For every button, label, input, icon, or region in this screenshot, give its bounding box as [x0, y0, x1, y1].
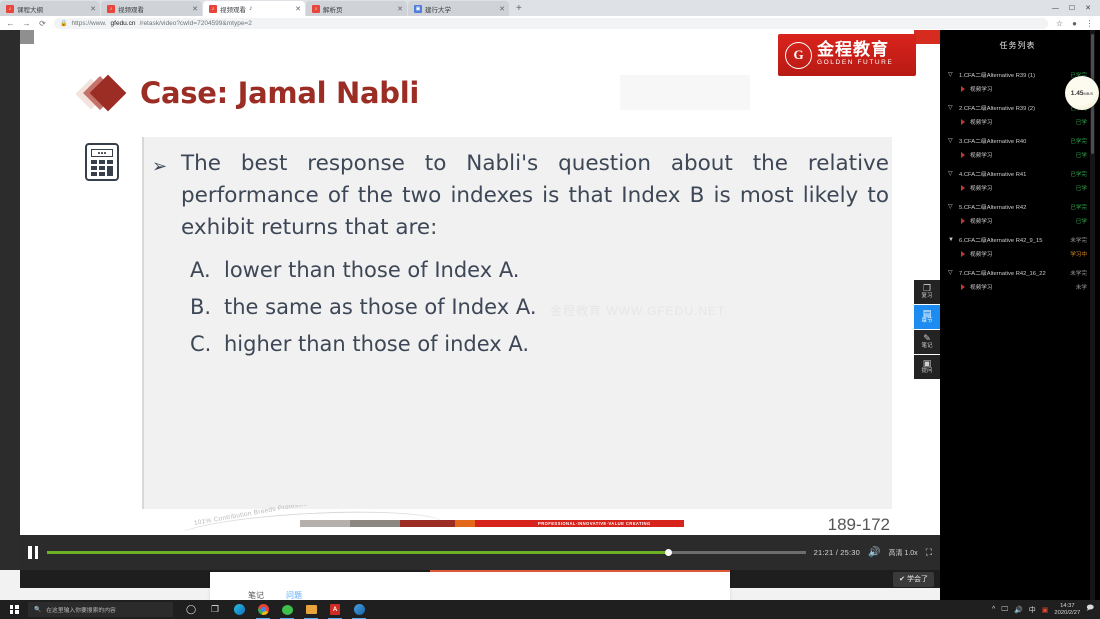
windows-taskbar: 🔍 在这里输入你要搜索的内容 ◯ ❐ A ^ 🖵 🔊 中 ▣ 14:37 202… [0, 600, 1100, 619]
search-icon: 🔍 [34, 607, 41, 613]
task-label: 6.CFA二级Alternative R42_9_15 [959, 235, 1066, 244]
footer-swoosh: 101% Contribution Breeds Professionalism… [165, 505, 455, 531]
task-group-3: ▽ 3.CFA二级Alternative R40 已学完 视频学习 已学 [948, 133, 1087, 162]
tool-notes-button[interactable]: ✎ 笔记 [914, 330, 940, 354]
slide-shadow [620, 75, 750, 110]
learned-button[interactable]: ✔ 学会了 [893, 572, 934, 587]
shield-favicon: ▣ [414, 5, 422, 13]
url-scheme: https://www. [71, 20, 106, 27]
file-explorer-icon[interactable] [299, 600, 323, 619]
subtask-label: 视频学习 [970, 118, 1072, 126]
network-speed-badge: 1.45MB/S [1065, 76, 1099, 110]
subtask-status: 学习中 [1070, 250, 1087, 258]
task-item[interactable]: ▽ 3.CFA二级Alternative R40 已学完 [948, 133, 1087, 148]
tab-strip: ♪ 课程大纲 ✕ ♪ 视频观看 ✕ ♪ 视频观看 ♪ ✕ ♪ 解析页 ✕ [0, 0, 1100, 16]
subtask-label: 视频学习 [970, 151, 1072, 159]
wechat-icon[interactable] [275, 600, 299, 619]
subtask-status: 已学 [1076, 217, 1087, 225]
slide-watermark: 金程教育 WWW.GFEDU.NET [550, 302, 725, 319]
quality-selector[interactable]: 高清 1.0x [889, 548, 918, 558]
choice-b-label: B. [190, 289, 212, 326]
taskbar-clock[interactable]: 14:37 2020/2/27 [1054, 603, 1080, 616]
notification-icon[interactable]: 🗩 [1086, 604, 1094, 615]
time-display: 21:21 / 25:30 [814, 548, 860, 557]
brand-logo: G 金程教育 GOLDEN FUTURE [778, 34, 916, 76]
ime-icon[interactable]: 中 [1029, 605, 1036, 615]
task-label: 1.CFA二级Alternative R39 (1) [959, 70, 1066, 79]
play-icon [960, 251, 966, 257]
subtask-label: 视频学习 [970, 85, 1072, 93]
task-item[interactable]: ▼ 6.CFA二级Alternative R42_9_15 未学完 [948, 232, 1087, 247]
chevron-down-icon[interactable]: ▽ [948, 137, 955, 144]
volume-on-icon[interactable]: 🔊 [868, 547, 880, 558]
music-favicon: ♪ [312, 5, 320, 13]
browser-tab-1[interactable]: ♪ 课程大纲 ✕ [0, 1, 100, 16]
reload-icon[interactable]: ⟳ [38, 19, 47, 28]
forward-icon[interactable]: → [22, 19, 31, 28]
chevron-down-icon[interactable]: ▽ [948, 104, 955, 111]
task-group-5: ▽ 5.CFA二级Alternative R42 已学完 视频学习 已学 [948, 199, 1087, 228]
task-label: 4.CFA二级Alternative R41 [959, 169, 1066, 178]
task-status: 未学完 [1070, 236, 1087, 244]
play-icon [960, 284, 966, 290]
chevron-down-icon[interactable]: ▼ [948, 237, 955, 243]
logo-english: GOLDEN FUTURE [817, 58, 893, 68]
choice-a-label: A. [190, 252, 212, 289]
slide-canvas: G 金程教育 GOLDEN FUTURE Case: Jamal Nabli [20, 30, 940, 535]
tab-title: 课程大纲 [17, 4, 43, 14]
task-label: 3.CFA二级Alternative R40 [959, 136, 1066, 145]
subtask-label: 视频学习 [970, 250, 1066, 258]
tool-review-button[interactable]: ❐ 复习 [914, 280, 940, 304]
new-tab-button[interactable]: + [510, 1, 528, 16]
taskbar-apps: ◯ ❐ A [179, 600, 371, 619]
lock-icon: 🔒 [60, 20, 67, 27]
task-group-2: ▽ 2.CFA二级Alternative R39 (2) 已学完 视频学习 已学 [948, 100, 1087, 129]
browser-tab-2[interactable]: ♪ 视频观看 ✕ [101, 1, 202, 16]
choice-a-text: lower than those of Index A. [224, 252, 520, 289]
window-controls: — ☐ ✕ [1043, 0, 1100, 16]
browser-menu-icon[interactable]: ⋮ [1085, 19, 1094, 28]
video-controls: 21:21 / 25:30 🔊 高清 1.0x ⛶ [20, 535, 940, 570]
chrome-icon[interactable] [251, 600, 275, 619]
system-tray: ^ 🖵 🔊 中 ▣ 14:37 2020/2/27 🗩 [992, 603, 1100, 616]
browser-tab-3-active[interactable]: ♪ 视频观看 ♪ ✕ [203, 1, 305, 16]
task-label: 7.CFA二级Alternative R42_16_22 [959, 268, 1066, 277]
screen: ♪ 课程大纲 ✕ ♪ 视频观看 ✕ ♪ 视频观看 ♪ ✕ ♪ 解析页 ✕ [0, 0, 1100, 619]
screen-icon[interactable]: 🖵 [1001, 606, 1008, 614]
back-icon[interactable]: ← [6, 19, 15, 28]
maximize-button[interactable]: ☐ [1069, 4, 1075, 12]
task-label: 5.CFA二级Alternative R42 [959, 202, 1066, 211]
tab-close-icon[interactable]: ✕ [493, 5, 505, 13]
page-title: Case: Jamal Nabli [140, 76, 419, 110]
task-subitem[interactable]: 视频学习 未学 [948, 280, 1087, 294]
choice-c-text: higher than those of index A. [224, 326, 529, 363]
tab-title: 解析页 [323, 4, 343, 14]
pause-icon[interactable] [28, 546, 39, 559]
tool-review-label: 复习 [921, 294, 932, 300]
task-item[interactable]: ▽ 2.CFA二级Alternative R39 (2) 已学完 [948, 100, 1087, 115]
show-hidden-icon[interactable]: ^ [992, 606, 995, 613]
task-label: 2.CFA二级Alternative R39 (2) [959, 103, 1066, 112]
volume-icon[interactable]: 🔊 [1014, 606, 1023, 614]
progress-played [47, 551, 669, 554]
task-list-sidebar: 任务列表 ▽ 1.CFA二级Alternative R39 (1) 已学完 视频… [940, 30, 1095, 600]
pencil-icon: ✎ [923, 334, 931, 343]
task-list-title: 任务列表 [940, 30, 1095, 51]
task-item[interactable]: ▽ 5.CFA二级Alternative R42 已学完 [948, 199, 1087, 214]
url-path: /retask/video?cwId=7204599&mtype=2 [139, 20, 251, 27]
url-domain: gfedu.cn [111, 20, 136, 27]
chevron-down-icon[interactable]: ▽ [948, 170, 955, 177]
music-favicon: ♪ [6, 5, 14, 13]
question-text: The best response to Nabli's question ab… [181, 148, 889, 244]
task-item[interactable]: ▽ 1.CFA二级Alternative R39 (1) 已学完 [948, 67, 1087, 82]
cortana-icon[interactable]: ◯ [179, 600, 203, 619]
red-app-icon[interactable]: ▣ [1042, 606, 1049, 614]
tab-close-icon[interactable]: ✕ [84, 5, 96, 13]
video-player[interactable]: G 金程教育 GOLDEN FUTURE Case: Jamal Nabli [20, 30, 940, 570]
answer-choices: A. lower than those of Index A. B. the s… [190, 252, 890, 363]
speed-unit: MB/S [1083, 91, 1093, 96]
play-icon [960, 218, 966, 224]
tab-close-icon[interactable]: ✕ [289, 5, 301, 13]
subtask-label: 视频学习 [970, 217, 1072, 225]
tab-close-icon[interactable]: ✕ [186, 5, 198, 13]
task-group-6: ▼ 6.CFA二级Alternative R42_9_15 未学完 视频学习 学… [948, 232, 1087, 261]
choice-b[interactable]: B. the same as those of Index A. [190, 289, 890, 326]
sidebar-scrollbar[interactable] [1090, 30, 1095, 600]
tab-audio-icon[interactable]: ♪ [249, 5, 253, 12]
review-icon: ❐ [923, 284, 931, 293]
task-view-icon[interactable]: ❐ [203, 600, 227, 619]
task-subitem[interactable]: 视频学习 已学 [948, 115, 1087, 129]
page-body: G 金程教育 GOLDEN FUTURE Case: Jamal Nabli [0, 30, 1100, 600]
browser-toolbar: ← → ⟳ 🔒 https://www. gfedu.cn /retask/vi… [0, 16, 1100, 30]
subtask-status: 已学 [1076, 118, 1087, 126]
footer-color-bars: PROFESSIONAL·INNOVATIVE·VALUE CREATING [300, 520, 684, 527]
task-status: 已学完 [1070, 170, 1087, 178]
pdf-reader-icon[interactable]: A [323, 600, 347, 619]
diamond-decoration-icon [80, 74, 126, 112]
play-icon [960, 119, 966, 125]
check-icon: ✔ [899, 575, 905, 583]
task-subitem[interactable]: 视频学习 已学 [948, 214, 1087, 228]
choice-b-text: the same as those of Index A. [224, 289, 537, 326]
task-status: 未学完 [1070, 269, 1087, 277]
slide-footer: 101% Contribution Breeds Professionalism… [20, 507, 940, 535]
tab-close-icon[interactable]: ✕ [391, 5, 403, 13]
fullscreen-icon[interactable]: ⛶ [926, 547, 932, 558]
tool-notes-label: 笔记 [921, 344, 932, 350]
subtask-status: 未学 [1076, 283, 1087, 291]
task-subitem[interactable]: 视频学习 学习中 [948, 247, 1087, 261]
clock-date: 2020/2/27 [1054, 610, 1080, 617]
task-group-7: ▽ 7.CFA二级Alternative R42_16_22 未学完 视频学习 … [948, 265, 1087, 294]
tool-ask-button[interactable]: ▣ 提问 [914, 355, 940, 379]
taskbar-search-input[interactable]: 🔍 在这里输入你要搜索的内容 [28, 602, 173, 617]
tool-chapters-button[interactable]: ▤ 章节 [914, 305, 940, 329]
tab-title: 视频观看 [118, 4, 144, 14]
tool-ask-label: 提问 [921, 369, 932, 375]
browser-tab-4[interactable]: ♪ 解析页 ✕ [306, 1, 407, 16]
left-gutter [0, 30, 20, 570]
play-icon [960, 86, 966, 92]
subtask-status: 已学 [1076, 151, 1087, 159]
footer-tagline: PROFESSIONAL·INNOVATIVE·VALUE CREATING [535, 520, 654, 527]
task-item[interactable]: ▽ 7.CFA二级Alternative R42_16_22 未学完 [948, 265, 1087, 280]
bullet-arrow-icon: ➢ [152, 156, 167, 177]
edge-icon[interactable] [227, 600, 251, 619]
chevron-down-icon[interactable]: ▽ [948, 269, 955, 276]
choice-c[interactable]: C. higher than those of index A. [190, 326, 890, 363]
music-favicon: ♪ [107, 5, 115, 13]
blue-app-icon[interactable] [347, 600, 371, 619]
address-bar[interactable]: 🔒 https://www. gfedu.cn /retask/video?cw… [54, 18, 1048, 29]
slide-title-row: Case: Jamal Nabli [80, 74, 419, 112]
logo-chinese: 金程教育 [817, 41, 893, 58]
slide-page-number: 189-172 [828, 515, 890, 535]
calculator-icon [85, 143, 119, 181]
browser-tab-5[interactable]: ▣ 建行大学 ✕ [408, 1, 509, 16]
subtask-status: 已学 [1076, 184, 1087, 192]
play-icon [960, 152, 966, 158]
tab-title: 视频观看 [220, 4, 246, 14]
question-icon: ▣ [923, 359, 932, 368]
progress-knob[interactable] [665, 549, 672, 556]
chevron-down-icon[interactable]: ▽ [948, 203, 955, 210]
profile-avatar[interactable]: ● [1070, 19, 1079, 28]
browser-chrome: ♪ 课程大纲 ✕ ♪ 视频观看 ✕ ♪ 视频观看 ♪ ✕ ♪ 解析页 ✕ [0, 0, 1100, 30]
seal-icon: G [785, 42, 812, 69]
learned-button-label: 学会了 [907, 574, 928, 584]
windows-start-icon[interactable] [0, 600, 28, 619]
close-window-button[interactable]: ✕ [1085, 4, 1091, 12]
subtask-label: 视频学习 [970, 184, 1072, 192]
play-icon [960, 185, 966, 191]
clock-time: 14:37 [1054, 603, 1080, 610]
task-group-4: ▽ 4.CFA二级Alternative R41 已学完 视频学习 已学 [948, 166, 1087, 195]
minimize-button[interactable]: — [1052, 5, 1059, 12]
subtask-label: 视频学习 [970, 283, 1072, 291]
music-favicon: ♪ [209, 5, 217, 13]
speed-value: 1.45 [1071, 90, 1084, 97]
task-status: 已学完 [1070, 203, 1087, 211]
tab-title: 建行大学 [425, 4, 451, 14]
choice-c-label: C. [190, 326, 212, 363]
video-tool-rail: ❐ 复习 ▤ 章节 ✎ 笔记 ▣ 提问 [914, 280, 940, 380]
chevron-down-icon[interactable]: ▽ [948, 71, 955, 78]
task-item[interactable]: ▽ 4.CFA二级Alternative R41 已学完 [948, 166, 1087, 181]
task-subitem[interactable]: 视频学习 已学 [948, 181, 1087, 195]
progress-bar[interactable] [47, 546, 806, 559]
tool-chapters-label: 章节 [921, 319, 932, 325]
chapters-icon: ▤ [923, 309, 932, 318]
task-status: 已学完 [1070, 137, 1087, 145]
search-placeholder: 在这里输入你要搜索的内容 [46, 605, 116, 614]
task-subitem[interactable]: 视频学习 已学 [948, 148, 1087, 162]
bookmark-star-icon[interactable]: ☆ [1055, 19, 1064, 28]
choice-a[interactable]: A. lower than those of Index A. [190, 252, 890, 289]
